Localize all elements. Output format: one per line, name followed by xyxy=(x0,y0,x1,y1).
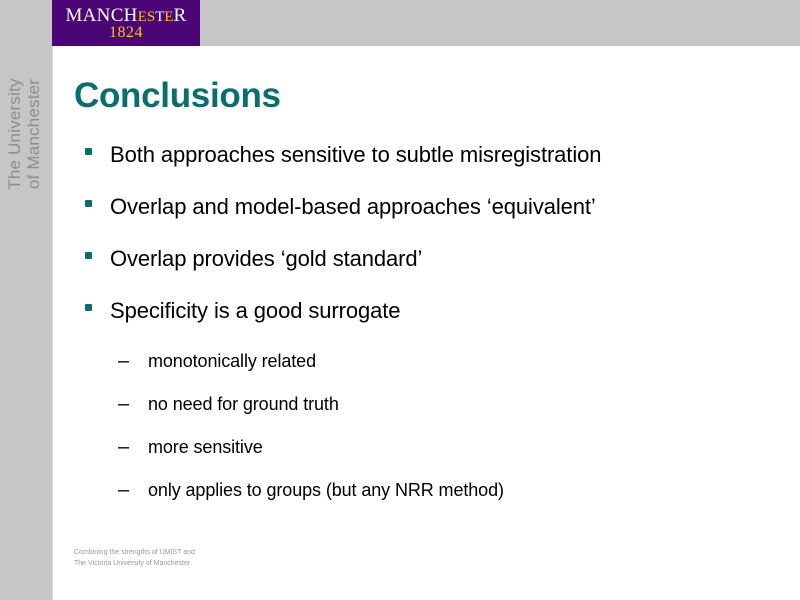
manchester-logo: MANCHESTER 1824 xyxy=(52,0,200,46)
bullet-dot-icon xyxy=(85,200,92,207)
bullet-text: Overlap and model-based approaches ‘equi… xyxy=(110,194,596,220)
sub-bullet-text: no need for ground truth xyxy=(148,393,339,415)
sub-bullet-text: monotonically related xyxy=(148,350,316,372)
en-dash-icon: – xyxy=(118,479,129,501)
sub-bullet-text: more sensitive xyxy=(148,436,263,458)
bullet-item: Overlap and model-based approaches ‘equi… xyxy=(74,194,774,246)
sub-bullet-text: only applies to groups (but any NRR meth… xyxy=(148,479,504,501)
logo-word-segment-2: ES xyxy=(138,9,156,25)
bullet-dot-icon xyxy=(85,148,92,155)
footer-line-2: The Victoria University of Manchester xyxy=(74,558,195,569)
bullet-dot-icon xyxy=(85,304,92,311)
en-dash-icon: – xyxy=(118,393,129,415)
bullet-item: Specificity is a good surrogate xyxy=(74,298,774,350)
bullet-text: Specificity is a good surrogate xyxy=(110,298,400,324)
bullet-text: Overlap provides ‘gold standard’ xyxy=(110,246,422,272)
slide-title: Conclusions xyxy=(74,76,281,116)
bullet-text: Both approaches sensitive to subtle misr… xyxy=(110,142,601,168)
logo-word-segment-3: T xyxy=(155,9,164,25)
logo-word-segment-5: R xyxy=(174,5,187,26)
sub-bullet-item: – no need for ground truth xyxy=(74,393,774,436)
bullet-list: Both approaches sensitive to subtle misr… xyxy=(74,142,774,522)
bullet-dot-icon xyxy=(85,252,92,259)
bullet-item: Both approaches sensitive to subtle misr… xyxy=(74,142,774,194)
footer-line-1: Combining the strengths of UMIST and xyxy=(74,547,195,558)
sub-bullet-item: – monotonically related xyxy=(74,350,774,393)
en-dash-icon: – xyxy=(118,436,129,458)
sub-bullet-item: – only applies to groups (but any NRR me… xyxy=(74,479,774,522)
presentation-slide: The University of Manchester MANCHESTER … xyxy=(0,0,800,600)
en-dash-icon: – xyxy=(118,350,129,372)
university-vertical-name: The University of Manchester xyxy=(5,44,49,224)
sub-bullet-item: – more sensitive xyxy=(74,436,774,479)
left-sidebar: The University of Manchester xyxy=(0,0,53,600)
logo-word-segment-4: E xyxy=(164,9,173,25)
logo-word-segment-1: MANCH xyxy=(65,5,137,26)
bullet-item: Overlap provides ‘gold standard’ xyxy=(74,246,774,298)
university-vertical-name-line-2: of Manchester xyxy=(24,44,43,224)
footer-strapline: Combining the strengths of UMIST and The… xyxy=(74,547,195,569)
manchester-logo-year: 1824 xyxy=(52,25,200,41)
university-vertical-name-line-1: The University xyxy=(5,44,24,224)
